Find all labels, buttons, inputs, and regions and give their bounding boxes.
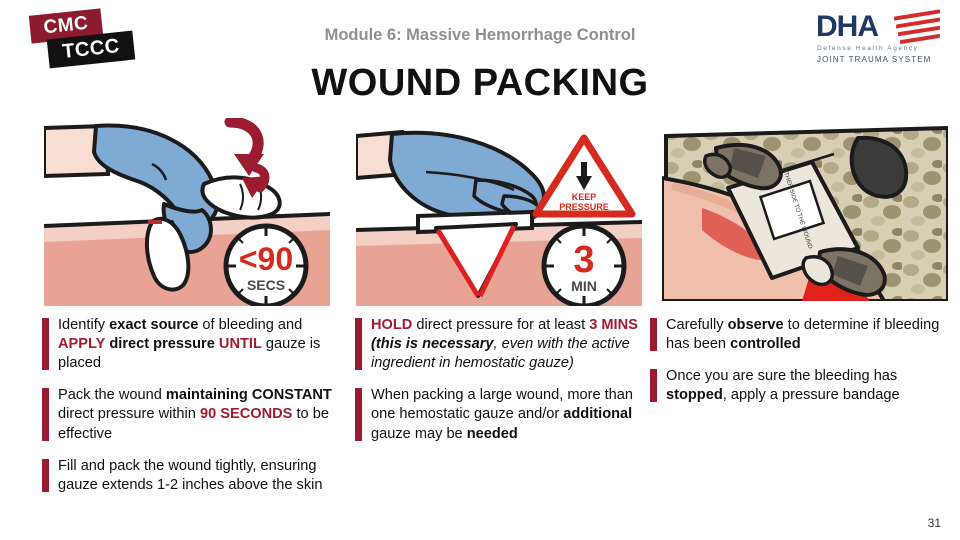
bullet-column-1: Identify exact source of bleeding and AP…	[42, 316, 347, 508]
list-item: HOLD direct pressure for at least 3 MINS…	[355, 316, 645, 373]
svg-text:PRESSURE: PRESSURE	[559, 202, 609, 212]
bullet-text: Carefully observe to determine if bleedi…	[666, 316, 940, 354]
bullet-text: Fill and pack the wound tightly, ensurin…	[58, 457, 347, 495]
list-item: When packing a large wound, more than on…	[355, 386, 645, 443]
wound-packing-step1-illustration: <90 SECS	[44, 118, 330, 306]
bullet-bar	[355, 318, 362, 370]
bullet-column-2: HOLD direct pressure for at least 3 MINS…	[355, 316, 645, 457]
bullet-bar	[650, 318, 657, 351]
list-item: Carefully observe to determine if bleedi…	[650, 316, 940, 354]
bullet-bar	[650, 369, 657, 402]
timer-badge-3-min: 3 MIN	[544, 226, 624, 306]
dha-subtitle-agency: Defense Health Agency	[817, 45, 919, 52]
svg-text:MIN: MIN	[571, 278, 597, 294]
page-number: 31	[928, 516, 941, 530]
svg-text:3: 3	[573, 239, 594, 281]
illustration-panel-1: <90 SECS	[44, 118, 330, 306]
list-item: Once you are sure the bleeding has stopp…	[650, 367, 940, 405]
timer-badge-90-secs: <90 SECS	[226, 226, 306, 306]
bullet-text: When packing a large wound, more than on…	[371, 386, 645, 443]
bullet-text: Identify exact source of bleeding and AP…	[58, 316, 347, 373]
list-item: Fill and pack the wound tightly, ensurin…	[42, 457, 347, 495]
hold-pressure-step2-illustration: KEEP PRESSURE 3 MIN	[356, 118, 642, 306]
svg-text:KEEP: KEEP	[572, 192, 597, 202]
page-title: WOUND PACKING	[0, 62, 960, 105]
module-header: Module 6: Massive Hemorrhage Control	[0, 26, 960, 45]
illustration-panel-3: OTHER SIDE TO THE WOUND	[662, 126, 948, 301]
list-item: Pack the wound maintaining CONSTANT dire…	[42, 386, 347, 443]
bullet-text: Once you are sure the bleeding has stopp…	[666, 367, 940, 405]
bullet-bar	[42, 318, 49, 370]
keep-pressure-warning-icon: KEEP PRESSURE	[536, 138, 632, 214]
bullet-bar	[42, 388, 49, 440]
list-item: Identify exact source of bleeding and AP…	[42, 316, 347, 373]
illustration-panel-2: KEEP PRESSURE 3 MIN	[356, 118, 642, 306]
bullet-text: HOLD direct pressure for at least 3 MINS…	[371, 316, 645, 373]
slide: CMC TCCC DHA ★ Defense Health Agency JOI…	[0, 0, 960, 540]
bullet-bar	[42, 459, 49, 492]
bullet-text: Pack the wound maintaining CONSTANT dire…	[58, 386, 347, 443]
bullet-bar	[355, 388, 362, 440]
bullet-column-3: Carefully observe to determine if bleedi…	[650, 316, 940, 418]
svg-text:SECS: SECS	[247, 277, 285, 293]
pressure-bandage-step3-illustration: OTHER SIDE TO THE WOUND	[662, 126, 948, 301]
svg-text:<90: <90	[239, 241, 293, 277]
